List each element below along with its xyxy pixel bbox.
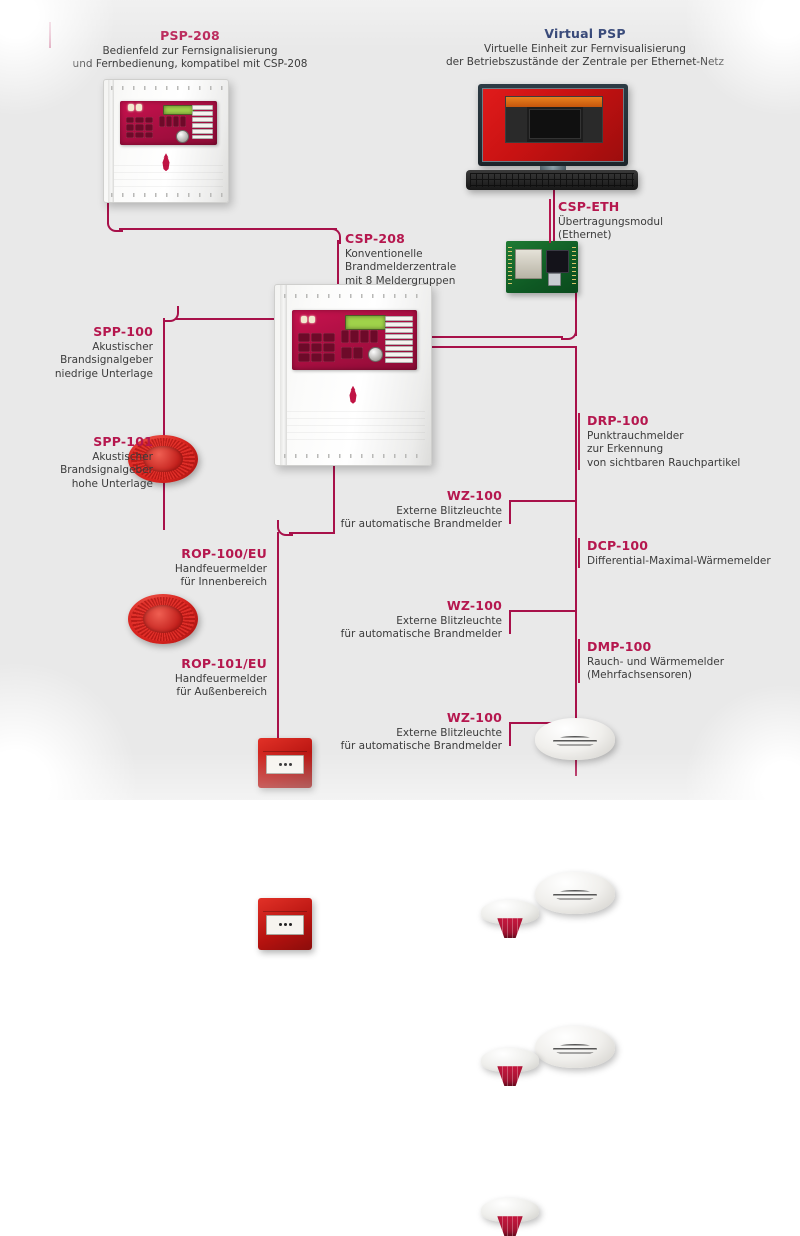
label-spp101: SPP-101 Akustischer Brandsignalgeber hoh… — [0, 434, 153, 491]
function-key[interactable] — [341, 347, 352, 359]
label-drp100-line-0: Punktrauchmelder — [587, 430, 740, 443]
software-titlebar — [506, 97, 601, 107]
beacon-lens — [497, 918, 523, 938]
line-detector-trunk — [575, 346, 577, 776]
panel-lcd-display — [345, 315, 387, 330]
panel-function-keys-row2[interactable] — [341, 347, 363, 359]
status-led-fault — [309, 316, 315, 323]
label-wz100-c-line-0: Externe Blitzleuchte — [330, 727, 502, 740]
label-csp208-line-1: Brandmelderzentrale — [345, 261, 456, 274]
label-wz100-a: WZ-100 Externe Blitzleuchte für automati… — [330, 488, 502, 532]
function-key[interactable] — [159, 116, 165, 127]
zone-led — [385, 340, 414, 345]
panel-ribs — [287, 411, 424, 443]
device-beacon-wz100-b[interactable] — [481, 1048, 539, 1086]
label-csp-eth-title: CSP-ETH — [558, 199, 663, 215]
detector-vent-slits — [553, 890, 598, 901]
callpoint-top-panel — [263, 742, 306, 752]
keypad-key[interactable] — [311, 333, 322, 342]
beacon-lens — [497, 1066, 523, 1086]
label-rop100-line-1: für Innenbereich — [110, 576, 267, 589]
zone-led — [385, 328, 414, 333]
function-key[interactable] — [166, 116, 172, 127]
line-callpoint-across — [289, 532, 335, 534]
status-led-fault — [136, 104, 142, 111]
software-right-pane — [583, 107, 602, 142]
label-dcp100-line-0: Differential-Maximal-Wärmemelder — [587, 555, 771, 568]
label-rop100: ROP-100/EU Handfeuermelder für Innenbere… — [110, 546, 267, 590]
panel-screws-bottom — [284, 454, 424, 458]
panel-keypad[interactable] — [298, 333, 334, 363]
device-multi-detector-dmp100[interactable] — [535, 1026, 615, 1068]
keypad-key[interactable] — [323, 343, 334, 352]
status-led-fire — [301, 316, 307, 323]
label-spp101-title: SPP-101 — [0, 434, 153, 450]
zone-led — [192, 123, 213, 128]
keypad-key[interactable] — [126, 124, 134, 131]
label-csp208-title: CSP-208 — [345, 231, 456, 247]
label-psp208-line-1: und Fernbedienung, kompatibel mit CSP-20… — [30, 58, 350, 71]
beacon-lens — [497, 1216, 523, 1236]
pcb-pin-header-left — [508, 247, 512, 287]
label-spp100-title: SPP-100 — [0, 324, 153, 340]
label-dmp100-line-1: (Mehrfachsensoren) — [587, 669, 724, 682]
panel-function-keys[interactable] — [341, 330, 378, 343]
label-drp100-title: DRP-100 — [587, 413, 740, 429]
software-left-pane — [506, 107, 527, 142]
panel-zone-leds — [192, 105, 213, 139]
zone-led — [192, 111, 213, 116]
zone-led — [385, 346, 414, 351]
device-csp-eth-module[interactable] — [506, 241, 578, 293]
panel-face — [120, 101, 217, 145]
label-wz100-c-title: WZ-100 — [330, 710, 502, 726]
label-wz100-b-title: WZ-100 — [330, 598, 502, 614]
zone-led — [192, 135, 213, 140]
function-key[interactable] — [370, 330, 379, 343]
detector-vent-slits — [553, 1044, 598, 1055]
label-wz100-a-title: WZ-100 — [330, 488, 502, 504]
label-wz100-a-line-1: für automatische Brandmelder — [330, 518, 502, 531]
panel-zone-leds — [385, 316, 414, 364]
zone-led — [192, 117, 213, 122]
keypad-key[interactable] — [311, 353, 322, 362]
device-keyboard[interactable] — [466, 170, 638, 190]
label-rop101: ROP-101/EU Handfeuermelder für Außenbere… — [110, 656, 267, 700]
label-rop101-line-1: für Außenbereich — [110, 686, 267, 699]
callpoint-dot — [289, 923, 292, 926]
label-virtual-psp: Virtual PSP Virtuelle Einheit zur Fernvi… — [420, 26, 750, 70]
line-beacon-b-drop — [509, 610, 511, 634]
pcb-pin-header-right — [572, 247, 576, 287]
label-drp100: DRP-100 Punktrauchmelder zur Erkennung v… — [578, 413, 740, 470]
line-eth-to-panel — [430, 336, 563, 338]
keypad-key[interactable] — [135, 132, 143, 139]
label-wz100-b-line-0: Externe Blitzleuchte — [330, 615, 502, 628]
line-panel-left — [175, 318, 275, 320]
label-drp100-line-1: zur Erkennung — [587, 443, 740, 456]
software-main-pane — [529, 109, 580, 139]
device-sounder-spp101[interactable] — [128, 594, 198, 644]
line-beacon-a-across — [509, 500, 577, 502]
label-dcp100-title: DCP-100 — [587, 538, 771, 554]
callpoint-label — [266, 915, 305, 935]
diagram-canvas: PSP-208 Bedienfeld zur Fernsignalisierun… — [0, 0, 800, 800]
keypad-key[interactable] — [311, 343, 322, 352]
zone-led — [385, 358, 414, 363]
keypad-key[interactable] — [323, 333, 334, 342]
function-key[interactable] — [353, 347, 364, 359]
label-spp101-line-0: Akustischer — [0, 451, 153, 464]
pcb-component — [548, 273, 562, 285]
callpoint-label — [266, 755, 305, 774]
keypad-key[interactable] — [145, 117, 153, 124]
label-spp100-line-0: Akustischer — [0, 341, 153, 354]
panel-screws-bottom — [111, 193, 223, 197]
label-csp208: CSP-208 Konventionelle Brandmelderzentra… — [345, 231, 456, 288]
callpoint-dot — [279, 763, 282, 766]
function-key[interactable] — [180, 116, 186, 127]
device-beacon-wz100-a[interactable] — [481, 900, 539, 938]
panel-function-keys[interactable] — [159, 116, 186, 127]
label-rop100-title: ROP-100/EU — [110, 546, 267, 562]
pcb-microcontroller — [546, 250, 570, 273]
label-virtual-psp-line-1: der Betriebszustände der Zentrale per Et… — [420, 56, 750, 69]
label-wz100-b-line-1: für automatische Brandmelder — [330, 628, 502, 641]
device-csp208-panel[interactable] — [274, 284, 432, 466]
label-virtual-psp-line-0: Virtuelle Einheit zur Fernvisualisierung — [420, 43, 750, 56]
label-virtual-psp-title: Virtual PSP — [420, 26, 750, 42]
device-beacon-wz100-c[interactable] — [481, 1198, 539, 1236]
line-beacon-b-across — [509, 610, 577, 612]
label-psp208-line-0: Bedienfeld zur Fernsignalisierung — [30, 45, 350, 58]
label-csp-eth: CSP-ETH Übertragungsmodul (Ethernet) — [549, 199, 663, 243]
line-corner-eth — [561, 324, 577, 340]
label-rop101-line-0: Handfeuermelder — [110, 673, 267, 686]
keypad-key[interactable] — [298, 343, 309, 352]
label-rop101-title: ROP-101/EU — [110, 656, 267, 672]
zone-led — [192, 105, 213, 110]
zone-led — [385, 352, 414, 357]
panel-ribs — [114, 165, 223, 187]
device-smoke-detector-drp100[interactable] — [535, 718, 615, 760]
panel-key-switch[interactable] — [368, 347, 383, 362]
device-psp208-panel[interactable] — [103, 79, 229, 203]
callpoint-dot — [289, 763, 292, 766]
keypad-key[interactable] — [135, 124, 143, 131]
label-csp208-line-0: Konventionelle — [345, 248, 456, 261]
detector-vent-slits — [553, 736, 598, 747]
callpoint-dot — [284, 763, 287, 766]
panel-hinge — [280, 285, 288, 465]
device-callpoint-rop101[interactable] — [258, 898, 312, 950]
zone-led — [385, 322, 414, 327]
panel-status-leds — [128, 104, 142, 111]
label-spp101-line-1: Brandsignalgeber — [0, 464, 153, 477]
label-dmp100-line-0: Rauch- und Wärmemelder — [587, 656, 724, 669]
label-csp-eth-line-1: (Ethernet) — [558, 229, 663, 242]
keypad-key[interactable] — [145, 132, 153, 139]
line-panel-right — [430, 346, 575, 348]
line-panel-top — [337, 240, 339, 288]
label-wz100-c-line-1: für automatische Brandmelder — [330, 740, 502, 753]
function-key[interactable] — [173, 116, 179, 127]
function-key[interactable] — [350, 330, 359, 343]
panel-status-leds — [301, 316, 315, 323]
label-wz100-c: WZ-100 Externe Blitzleuchte für automati… — [330, 710, 502, 754]
label-dmp100: DMP-100 Rauch- und Wärmemelder (Mehrfach… — [578, 639, 724, 683]
panel-lcd-display — [163, 105, 194, 116]
keypad-key[interactable] — [298, 353, 309, 362]
label-psp208-title: PSP-208 — [30, 28, 350, 44]
label-rop100-line-0: Handfeuermelder — [110, 563, 267, 576]
keypad-key[interactable] — [126, 132, 134, 139]
status-led-fire — [128, 104, 134, 111]
function-key[interactable] — [341, 330, 350, 343]
panel-screws-top — [111, 86, 223, 90]
label-spp100-line-1: Brandsignalgeber — [0, 354, 153, 367]
panel-face — [292, 310, 417, 369]
panel-screws-top — [284, 294, 424, 298]
line-sounder-trunk — [163, 318, 165, 530]
device-heat-detector-dcp100[interactable] — [535, 872, 615, 914]
label-dcp100: DCP-100 Differential-Maximal-Wärmemelder — [578, 538, 771, 568]
label-dmp100-title: DMP-100 — [587, 639, 724, 655]
keypad-key[interactable] — [323, 353, 334, 362]
function-key[interactable] — [360, 330, 369, 343]
virtual-psp-software-window — [505, 96, 602, 143]
rj45-ethernet-port-icon — [515, 249, 541, 279]
label-spp100-line-2: niedrige Unterlage — [0, 368, 153, 381]
zone-led — [192, 129, 213, 134]
line-beacon-a-drop — [509, 500, 511, 524]
label-spp101-line-2: hohe Unterlage — [0, 478, 153, 491]
callpoint-top-panel — [263, 902, 306, 912]
label-psp208: PSP-208 Bedienfeld zur Fernsignalisierun… — [30, 28, 350, 72]
callpoint-dot — [279, 923, 282, 926]
line-beacon-c-drop — [509, 722, 511, 746]
device-callpoint-rop100[interactable] — [258, 738, 312, 788]
panel-keypad[interactable] — [126, 117, 153, 139]
panel-key-switch[interactable] — [176, 130, 189, 143]
label-spp100: SPP-100 Akustischer Brandsignalgeber nie… — [0, 324, 153, 381]
label-csp-eth-line-0: Übertragungsmodul — [558, 216, 663, 229]
zone-led — [385, 334, 414, 339]
line-psp208-right — [119, 228, 337, 230]
monitor-display-content — [482, 88, 624, 162]
keypad-key[interactable] — [145, 124, 153, 131]
keypad-key[interactable] — [135, 117, 143, 124]
flame-logo-icon — [345, 386, 361, 404]
callpoint-dot — [284, 923, 287, 926]
line-callpoint-trunk — [277, 532, 279, 772]
label-wz100-b: WZ-100 Externe Blitzleuchte für automati… — [330, 598, 502, 642]
monitor-screen — [478, 84, 628, 166]
label-csp208-line-2: mit 8 Meldergruppen — [345, 275, 456, 288]
zone-led — [385, 316, 414, 321]
label-wz100-a-line-0: Externe Blitzleuchte — [330, 505, 502, 518]
keypad-key[interactable] — [126, 117, 134, 124]
label-drp100-line-2: von sichtbaren Rauchpartikel — [587, 457, 740, 470]
keyboard-keys — [470, 173, 634, 187]
keypad-key[interactable] — [298, 333, 309, 342]
